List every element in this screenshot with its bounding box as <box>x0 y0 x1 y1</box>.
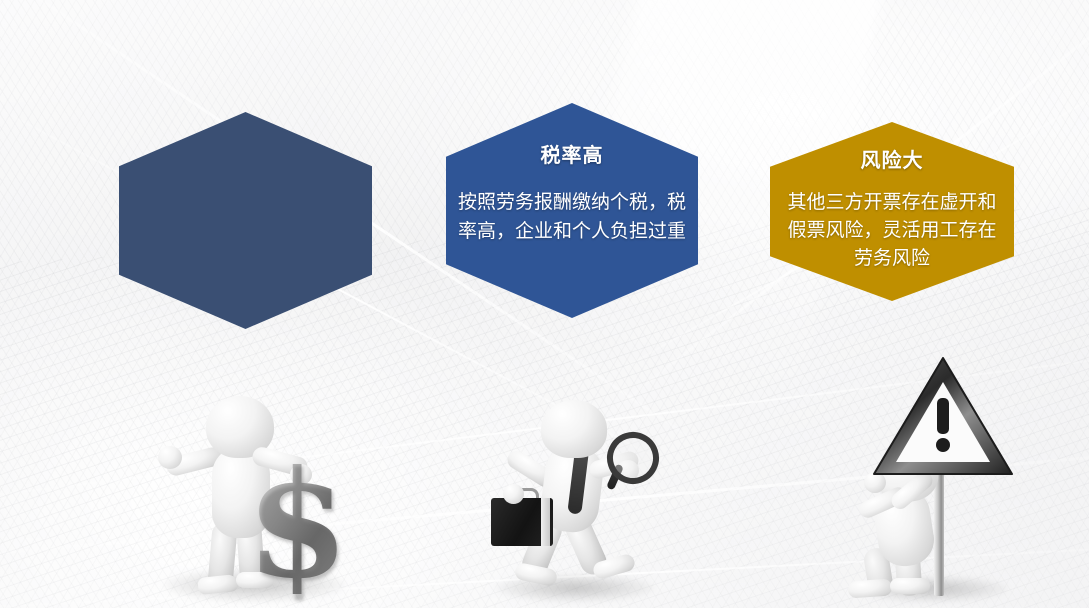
dollar-sign-prop: $ <box>246 464 348 594</box>
mannequin-left-hand <box>158 446 182 469</box>
businessman-figure-illustration <box>485 398 670 608</box>
card-high-risk-body: 其他三方开票存在虚开和假票风险，灵活用工存在劳务风险 <box>779 189 1005 273</box>
warning-triangle-icon <box>868 352 1018 482</box>
dollar-sign-figure-illustration: $ <box>160 390 350 608</box>
slide-canvas: $ <box>0 0 1089 608</box>
warning-sign-figure-illustration <box>840 348 1040 608</box>
mannequin-left-foot <box>847 578 892 598</box>
card-high-tax-rate-body: 按照劳务报酬缴纳个税，税率高，企业和个人负担过重 <box>458 188 686 246</box>
mannequin-right-foot <box>890 578 930 594</box>
card-high-tax-rate-title: 税率高 <box>541 139 604 168</box>
briefcase-stripe <box>541 498 550 546</box>
mannequin-head <box>541 400 607 458</box>
mannequin-left-hand <box>503 484 524 504</box>
dollar-sign-glyph: $ <box>246 464 348 594</box>
card-high-risk-title: 风险大 <box>861 144 924 173</box>
